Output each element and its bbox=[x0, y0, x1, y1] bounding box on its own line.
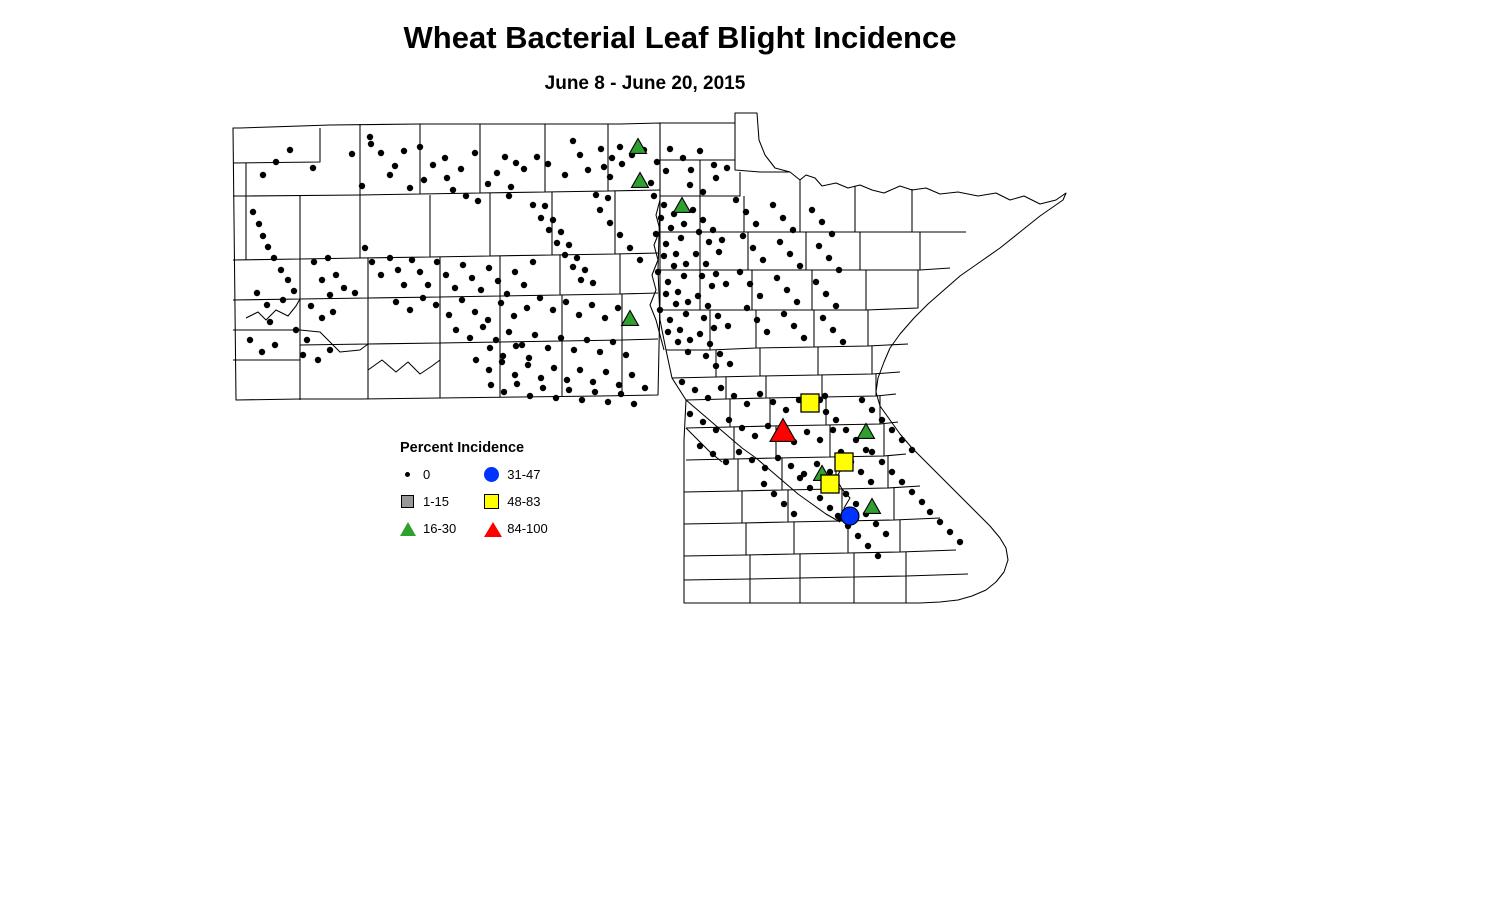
zero-incidence-point bbox=[697, 148, 703, 154]
zero-incidence-point bbox=[675, 289, 681, 295]
green-triangle-marker bbox=[864, 499, 881, 514]
zero-incidence-point bbox=[584, 337, 590, 343]
zero-incidence-point bbox=[688, 167, 694, 173]
zero-incidence-point bbox=[807, 485, 813, 491]
zero-incidence-point bbox=[280, 297, 286, 303]
zero-incidence-point bbox=[508, 184, 514, 190]
zero-incidence-point bbox=[858, 469, 864, 475]
zero-incidence-point bbox=[740, 233, 746, 239]
zero-incidence-point bbox=[308, 303, 314, 309]
zero-incidence-point bbox=[472, 150, 478, 156]
zero-incidence-point bbox=[727, 361, 733, 367]
zero-incidence-point bbox=[578, 277, 584, 283]
zero-incidence-point bbox=[563, 299, 569, 305]
legend-item-0: 0 bbox=[398, 466, 456, 483]
zero-incidence-point bbox=[754, 317, 760, 323]
zero-incidence-point bbox=[661, 202, 667, 208]
zero-incidence-point bbox=[775, 455, 781, 461]
legend-label-16-30: 16-30 bbox=[423, 521, 456, 536]
zero-incidence-point bbox=[817, 495, 823, 501]
zero-incidence-point bbox=[538, 215, 544, 221]
zero-incidence-point bbox=[392, 163, 398, 169]
zero-incidence-point bbox=[530, 202, 536, 208]
zero-incidence-point bbox=[502, 154, 508, 160]
zero-incidence-point bbox=[833, 303, 839, 309]
zero-incidence-point bbox=[752, 433, 758, 439]
zero-incidence-point bbox=[570, 138, 576, 144]
zero-incidence-point bbox=[665, 329, 671, 335]
zero-incidence-point bbox=[450, 187, 456, 193]
zero-incidence-point bbox=[254, 290, 260, 296]
zero-incidence-point bbox=[879, 459, 885, 465]
zero-incidence-point bbox=[706, 239, 712, 245]
zero-incidence-point bbox=[673, 251, 679, 257]
zero-incidence-point bbox=[859, 397, 865, 403]
zero-incidence-point bbox=[315, 357, 321, 363]
zero-incidence-point bbox=[247, 337, 253, 343]
zero-incidence-point bbox=[716, 249, 722, 255]
zero-incidence-point bbox=[542, 203, 548, 209]
zero-incidence-point bbox=[506, 193, 512, 199]
zero-incidence-point bbox=[609, 155, 615, 161]
zero-incidence-point bbox=[623, 352, 629, 358]
legend-label-84-100: 84-100 bbox=[507, 521, 547, 536]
zero-incidence-point bbox=[703, 353, 709, 359]
zero-incidence-point bbox=[667, 146, 673, 152]
zero-incidence-point bbox=[401, 148, 407, 154]
zero-incidence-point bbox=[574, 255, 580, 261]
zero-incidence-point bbox=[631, 401, 637, 407]
zero-incidence-point bbox=[663, 241, 669, 247]
zero-incidence-point bbox=[453, 327, 459, 333]
zero-incidence-point bbox=[695, 293, 701, 299]
zero-incidence-point bbox=[327, 347, 333, 353]
zero-incidence-point bbox=[260, 233, 266, 239]
zero-incidence-point bbox=[678, 235, 684, 241]
yellow-square-marker bbox=[821, 475, 839, 493]
zero-incidence-point bbox=[442, 155, 448, 161]
zero-incidence-point bbox=[889, 469, 895, 475]
zero-incidence-point bbox=[816, 243, 822, 249]
zero-incidence-point bbox=[585, 167, 591, 173]
zero-incidence-point bbox=[590, 280, 596, 286]
zero-incidence-point bbox=[787, 251, 793, 257]
zero-incidence-point bbox=[387, 172, 393, 178]
zero-incidence-point bbox=[265, 244, 271, 250]
zero-incidence-point bbox=[619, 161, 625, 167]
zero-incidence-point bbox=[444, 175, 450, 181]
zero-incidence-point bbox=[899, 437, 905, 443]
zero-incidence-point bbox=[707, 341, 713, 347]
zero-incidence-point bbox=[577, 152, 583, 158]
zero-incidence-point bbox=[725, 323, 731, 329]
zero-incidence-point bbox=[310, 165, 316, 171]
zero-incidence-point bbox=[697, 443, 703, 449]
zero-incidence-point bbox=[813, 279, 819, 285]
zero-incidence-point bbox=[532, 332, 538, 338]
map-legend: Percent Incidence 0 1-15 16-30 bbox=[398, 440, 598, 537]
zero-incidence-point bbox=[603, 369, 609, 375]
zero-incidence-point bbox=[605, 195, 611, 201]
zero-incidence-point bbox=[710, 451, 716, 457]
zero-incidence-point bbox=[452, 285, 458, 291]
zero-incidence-point bbox=[947, 529, 953, 535]
zero-incidence-point bbox=[615, 305, 621, 311]
zero-incidence-point bbox=[817, 437, 823, 443]
zero-incidence-point bbox=[700, 189, 706, 195]
zero-incidence-point bbox=[823, 409, 829, 415]
zero-incidence-point bbox=[653, 231, 659, 237]
zero-incidence-point bbox=[744, 401, 750, 407]
zero-incidence-point bbox=[764, 329, 770, 335]
zero-dot-icon bbox=[398, 466, 420, 483]
zero-incidence-point bbox=[589, 302, 595, 308]
zero-incidence-point bbox=[671, 263, 677, 269]
zero-incidence-point bbox=[407, 185, 413, 191]
zero-incidence-point bbox=[700, 217, 706, 223]
incidence-map bbox=[0, 0, 1503, 900]
zero-incidence-point bbox=[610, 339, 616, 345]
zero-incidence-point bbox=[570, 264, 576, 270]
zero-incidence-point bbox=[488, 382, 494, 388]
zero-incidence-point bbox=[665, 279, 671, 285]
zero-incidence-point bbox=[957, 539, 963, 545]
zero-incidence-point bbox=[527, 393, 533, 399]
zero-incidence-point bbox=[287, 147, 293, 153]
zero-incidence-point bbox=[823, 291, 829, 297]
zero-incidence-point bbox=[341, 285, 347, 291]
zero-incidence-point bbox=[791, 323, 797, 329]
zero-incidence-point bbox=[598, 146, 604, 152]
zero-incidence-point bbox=[757, 293, 763, 299]
zero-incidence-point bbox=[393, 299, 399, 305]
zero-incidence-point bbox=[743, 209, 749, 215]
zero-incidence-point bbox=[675, 339, 681, 345]
zero-incidence-point bbox=[271, 255, 277, 261]
zero-incidence-point bbox=[325, 255, 331, 261]
zero-incidence-point bbox=[485, 181, 491, 187]
zero-incidence-point bbox=[359, 183, 365, 189]
green-triangle-marker bbox=[632, 173, 649, 188]
zero-incidence-point bbox=[663, 168, 669, 174]
zero-incidence-point bbox=[826, 255, 832, 261]
zero-incidence-point bbox=[765, 423, 771, 429]
zero-incidence-point bbox=[713, 363, 719, 369]
zero-incidence-point bbox=[443, 272, 449, 278]
zero-incidence-point bbox=[524, 305, 530, 311]
zero-incidence-point bbox=[499, 359, 505, 365]
zero-incidence-point bbox=[530, 259, 536, 265]
zero-incidence-point bbox=[794, 299, 800, 305]
zero-incidence-point bbox=[545, 345, 551, 351]
zero-incidence-point bbox=[865, 543, 871, 549]
zero-incidence-point bbox=[820, 315, 826, 321]
zero-incidence-point bbox=[538, 375, 544, 381]
zero-incidence-point bbox=[737, 269, 743, 275]
zero-incidence-point bbox=[330, 309, 336, 315]
zero-incidence-point bbox=[378, 272, 384, 278]
zero-incidence-point bbox=[685, 299, 691, 305]
zero-incidence-point bbox=[654, 159, 660, 165]
green-triangle-marker bbox=[858, 424, 875, 439]
zero-incidence-point bbox=[637, 257, 643, 263]
gray-square-icon bbox=[398, 493, 420, 510]
zero-incidence-point bbox=[668, 225, 674, 231]
zero-incidence-point bbox=[830, 327, 836, 333]
zero-incidence-point bbox=[723, 459, 729, 465]
zero-incidence-point bbox=[486, 265, 492, 271]
zero-incidence-point bbox=[677, 327, 683, 333]
zero-incidence-point bbox=[267, 319, 273, 325]
zero-incidence-point bbox=[883, 531, 889, 537]
zero-incidence-point bbox=[469, 275, 475, 281]
zero-incidence-point bbox=[493, 337, 499, 343]
zero-incidence-point bbox=[459, 297, 465, 303]
zero-incidence-point bbox=[667, 317, 673, 323]
zero-incidence-point bbox=[771, 491, 777, 497]
zero-incidence-point bbox=[829, 231, 835, 237]
zero-incidence-point bbox=[592, 389, 598, 395]
zero-incidence-point bbox=[430, 162, 436, 168]
zero-incidence-point bbox=[446, 312, 452, 318]
legend-item-48-83: 48-83 bbox=[482, 493, 547, 510]
zero-incidence-point bbox=[291, 288, 297, 294]
zero-incidence-point bbox=[579, 397, 585, 403]
zero-incidence-point bbox=[513, 343, 519, 349]
zero-incidence-point bbox=[607, 220, 613, 226]
zero-incidence-point bbox=[333, 272, 339, 278]
zero-incidence-point bbox=[711, 162, 717, 168]
zero-incidence-point bbox=[566, 242, 572, 248]
green-triangle-icon bbox=[398, 520, 420, 537]
zero-incidence-point bbox=[781, 311, 787, 317]
zero-incidence-point bbox=[562, 252, 568, 258]
zero-incidence-point bbox=[513, 160, 519, 166]
zero-incidence-point bbox=[681, 221, 687, 227]
zero-incidence-point bbox=[739, 425, 745, 431]
zero-incidence-point bbox=[264, 302, 270, 308]
zero-incidence-point bbox=[855, 533, 861, 539]
red-triangle-marker bbox=[770, 419, 796, 442]
zero-incidence-point bbox=[697, 331, 703, 337]
zero-incidence-point bbox=[762, 465, 768, 471]
zero-incidence-point bbox=[259, 349, 265, 355]
zero-incidence-point bbox=[349, 151, 355, 157]
zero-incidence-point bbox=[605, 399, 611, 405]
zero-incidence-point bbox=[781, 501, 787, 507]
zero-incidence-point bbox=[830, 427, 836, 433]
red-triangle-icon bbox=[482, 520, 504, 537]
zero-incidence-point bbox=[368, 141, 374, 147]
zero-incidence-point bbox=[311, 259, 317, 265]
zero-incidence-point bbox=[514, 381, 520, 387]
zero-incidence-point bbox=[495, 278, 501, 284]
zero-incidence-point bbox=[417, 269, 423, 275]
legend-item-1-15: 1-15 bbox=[398, 493, 456, 510]
zero-incidence-point bbox=[618, 391, 624, 397]
legend-label-0: 0 bbox=[423, 467, 430, 482]
zero-incidence-point bbox=[425, 282, 431, 288]
zero-incidence-point bbox=[319, 277, 325, 283]
legend-label-1-15: 1-15 bbox=[423, 494, 449, 509]
zero-incidence-point bbox=[304, 337, 310, 343]
zero-incidence-point bbox=[378, 150, 384, 156]
zero-incidence-point bbox=[705, 395, 711, 401]
zero-incidence-point bbox=[873, 521, 879, 527]
zero-incidence-point bbox=[472, 309, 478, 315]
zero-incidence-point bbox=[362, 245, 368, 251]
zero-incidence-point bbox=[521, 166, 527, 172]
zero-incidence-point bbox=[521, 282, 527, 288]
yellow-square-marker bbox=[835, 453, 853, 471]
zero-incidence-point bbox=[827, 505, 833, 511]
zero-incidence-point bbox=[506, 329, 512, 335]
zero-incidence-point bbox=[687, 411, 693, 417]
zero-incidence-point bbox=[550, 217, 556, 223]
zero-incidence-point bbox=[673, 301, 679, 307]
zero-incidence-point bbox=[683, 261, 689, 267]
zero-incidence-point bbox=[713, 175, 719, 181]
legend-column-left: 0 1-15 16-30 bbox=[398, 466, 456, 537]
zero-incidence-point bbox=[736, 449, 742, 455]
zero-incidence-point bbox=[780, 215, 786, 221]
zero-incidence-point bbox=[551, 365, 557, 371]
zero-incidence-point bbox=[500, 353, 506, 359]
zero-incidence-point bbox=[487, 345, 493, 351]
zero-incidence-point bbox=[827, 469, 833, 475]
zero-incidence-point bbox=[710, 227, 716, 233]
zero-incidence-point bbox=[512, 269, 518, 275]
zero-incidence-point bbox=[409, 257, 415, 263]
zero-incidence-point bbox=[809, 207, 815, 213]
zero-incidence-point bbox=[777, 239, 783, 245]
zero-incidence-point bbox=[715, 313, 721, 319]
green-triangle-marker bbox=[630, 139, 647, 154]
green-triangle-marker bbox=[674, 198, 691, 213]
zero-incidence-point bbox=[512, 372, 518, 378]
zero-incidence-point bbox=[272, 342, 278, 348]
zero-incidence-point bbox=[463, 193, 469, 199]
zero-incidence-point bbox=[525, 362, 531, 368]
zero-incidence-point bbox=[417, 144, 423, 150]
figure-root: Wheat Bacterial Leaf Blight Incidence Ju… bbox=[0, 0, 1503, 900]
yellow-square-marker bbox=[801, 394, 819, 412]
zero-incidence-point bbox=[760, 257, 766, 263]
zero-incidence-point bbox=[593, 192, 599, 198]
zero-incidence-point bbox=[433, 302, 439, 308]
zero-incidence-point bbox=[784, 287, 790, 293]
zero-incidence-point bbox=[601, 164, 607, 170]
zero-incidence-point bbox=[783, 407, 789, 413]
zero-incidence-point bbox=[875, 553, 881, 559]
zero-incidence-point bbox=[655, 269, 661, 275]
zero-incidence-point bbox=[590, 379, 596, 385]
zero-incidence-point bbox=[577, 367, 583, 373]
zero-incidence-point bbox=[731, 393, 737, 399]
zero-incidence-point bbox=[687, 337, 693, 343]
zero-incidence-point bbox=[869, 449, 875, 455]
legend-label-48-83: 48-83 bbox=[507, 494, 540, 509]
zero-incidence-point bbox=[719, 237, 725, 243]
zero-incidence-point bbox=[597, 207, 603, 213]
zero-incidence-point bbox=[797, 475, 803, 481]
zero-incidence-point bbox=[833, 417, 839, 423]
zero-incidence-point bbox=[387, 255, 393, 261]
zero-incidence-point bbox=[367, 134, 373, 140]
zero-incidence-point bbox=[519, 342, 525, 348]
zero-incidence-point bbox=[486, 367, 492, 373]
zero-incidence-point bbox=[485, 317, 491, 323]
zero-incidence-point bbox=[420, 295, 426, 301]
zero-incidence-point bbox=[733, 197, 739, 203]
zero-incidence-point bbox=[661, 253, 667, 259]
zero-incidence-point bbox=[352, 290, 358, 296]
zero-incidence-point bbox=[434, 259, 440, 265]
zero-incidence-point bbox=[498, 300, 504, 306]
zero-incidence-point bbox=[537, 295, 543, 301]
zero-incidence-point bbox=[680, 155, 686, 161]
zero-incidence-point bbox=[407, 307, 413, 313]
legend-label-31-47: 31-47 bbox=[507, 467, 540, 482]
zero-incidence-point bbox=[701, 315, 707, 321]
zero-incidence-point bbox=[651, 193, 657, 199]
zero-incidence-point bbox=[616, 382, 622, 388]
zero-incidence-point bbox=[711, 325, 717, 331]
zero-incidence-point bbox=[369, 259, 375, 265]
zero-incidence-point bbox=[869, 407, 875, 413]
zero-incidence-point bbox=[937, 519, 943, 525]
zero-incidence-point bbox=[822, 393, 828, 399]
zero-incidence-point bbox=[819, 219, 825, 225]
zero-incidence-point bbox=[724, 165, 730, 171]
zero-incidence-point bbox=[300, 352, 306, 358]
zero-incidence-point bbox=[749, 457, 755, 463]
zero-incidence-point bbox=[319, 315, 325, 321]
zero-incidence-point bbox=[703, 261, 709, 267]
zero-incidence-point bbox=[545, 161, 551, 167]
zero-incidence-point bbox=[909, 447, 915, 453]
zero-incidence-point bbox=[540, 385, 546, 391]
zero-incidence-point bbox=[696, 229, 702, 235]
zero-incidence-point bbox=[657, 307, 663, 313]
zero-incidence-point bbox=[558, 229, 564, 235]
zero-incidence-point bbox=[554, 240, 560, 246]
zero-incidence-point bbox=[683, 311, 689, 317]
zero-incidence-point bbox=[804, 429, 810, 435]
zero-incidence-point bbox=[467, 335, 473, 341]
zero-incidence-point bbox=[843, 427, 849, 433]
zero-incidence-point bbox=[840, 339, 846, 345]
incidence-84-100-markers bbox=[770, 419, 796, 442]
zero-incidence-point bbox=[256, 221, 262, 227]
zero-incidence-point bbox=[757, 391, 763, 397]
zero-incidence-point bbox=[687, 182, 693, 188]
zero-incidence-point bbox=[571, 347, 577, 353]
zero-incidence-point bbox=[627, 245, 633, 251]
zero-incidence-point bbox=[553, 395, 559, 401]
zero-incidence-point bbox=[717, 351, 723, 357]
zero-incidence-point bbox=[285, 277, 291, 283]
zero-incidence-point bbox=[919, 499, 925, 505]
zero-incidence-point bbox=[566, 387, 572, 393]
legend-item-31-47: 31-47 bbox=[482, 466, 547, 483]
zero-incidence-point bbox=[889, 427, 895, 433]
zero-incidence-point bbox=[693, 251, 699, 257]
zero-incidence-point bbox=[648, 180, 654, 186]
county-boundaries bbox=[233, 123, 660, 400]
zero-incidence-point bbox=[836, 267, 842, 273]
zero-incidence-point bbox=[480, 324, 486, 330]
